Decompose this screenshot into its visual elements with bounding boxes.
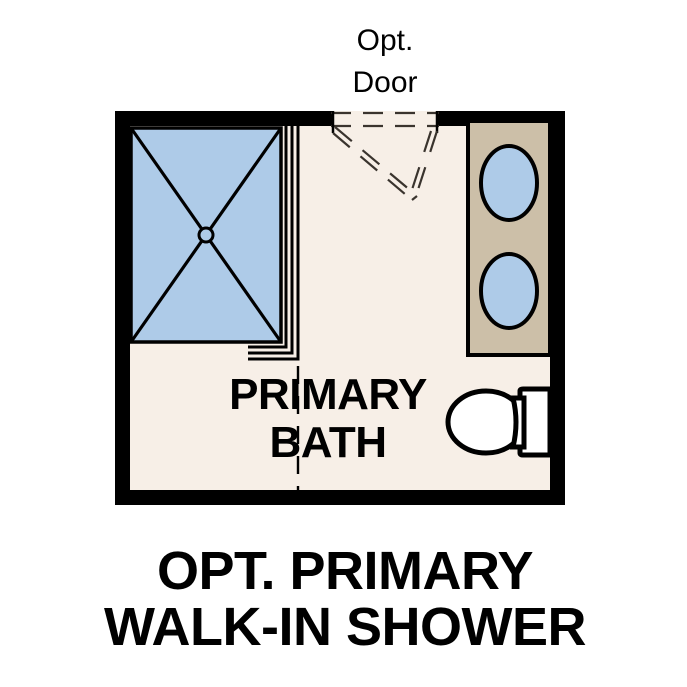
floor-plan-figure: Opt. Door bbox=[0, 0, 687, 687]
vanity-sink-upper bbox=[481, 146, 537, 220]
opt-door-label-line1: Opt. bbox=[357, 24, 414, 57]
room-label-line2: BATH bbox=[270, 418, 387, 467]
floor-plan-canvas: Opt. Door bbox=[0, 0, 687, 687]
opt-door-label-line2: Door bbox=[352, 66, 417, 99]
shower-drain-icon bbox=[199, 228, 213, 242]
wall-left bbox=[115, 111, 130, 505]
room-label-line1: PRIMARY bbox=[229, 370, 427, 419]
caption-line-2: WALK-IN SHOWER bbox=[104, 597, 586, 657]
shower-fixture[interactable] bbox=[131, 126, 298, 359]
toilet-seat-connector bbox=[513, 398, 524, 447]
opt-door-annotation: Opt. Door bbox=[352, 24, 417, 99]
caption-line-1: OPT. PRIMARY bbox=[157, 541, 534, 601]
wall-bottom bbox=[115, 490, 565, 505]
vanity-fixture[interactable] bbox=[468, 121, 550, 355]
toilet-fixture[interactable] bbox=[448, 389, 550, 455]
figure-caption: OPT. PRIMARY WALK-IN SHOWER bbox=[104, 541, 586, 657]
wall-top-left-segment bbox=[115, 111, 334, 126]
vanity-sink-lower bbox=[481, 254, 537, 328]
